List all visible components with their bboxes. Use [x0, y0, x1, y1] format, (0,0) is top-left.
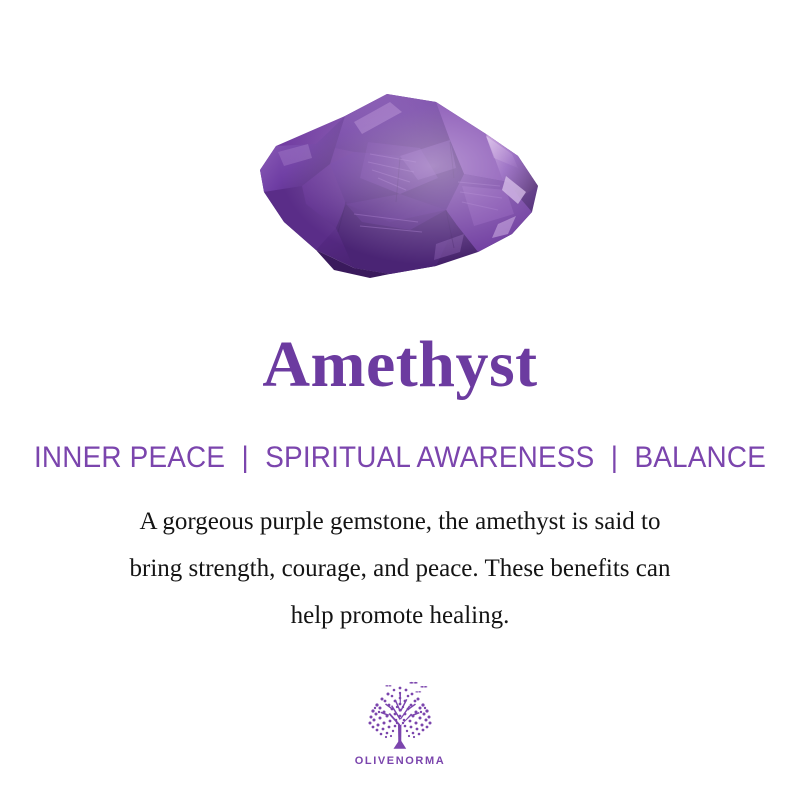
keyword-spiritual-awareness: SPIRITUAL AWARENESS: [265, 441, 594, 474]
amethyst-crystal-icon: [250, 82, 550, 297]
keyword-separator: |: [233, 441, 257, 474]
brand-name: OLIVENORMA: [355, 755, 446, 767]
tree-icon: [357, 678, 443, 752]
description-line: A gorgeous purple gemstone, the amethyst…: [50, 498, 750, 545]
keyword-inner-peace: INNER PEACE: [34, 441, 225, 474]
keyword-separator: |: [602, 441, 626, 474]
keyword-balance: BALANCE: [634, 441, 766, 474]
brand-logo: OLIVENORMA: [0, 678, 800, 767]
product-card: Amethyst INNER PEACE | SPIRITUAL AWARENE…: [0, 0, 800, 800]
description-line: help promote healing.: [50, 592, 750, 639]
product-description: A gorgeous purple gemstone, the amethyst…: [50, 498, 750, 639]
description-line: bring strength, courage, and peace. Thes…: [50, 545, 750, 592]
page-title: Amethyst: [0, 332, 800, 398]
gemstone-image: [0, 78, 800, 300]
keyword-list: INNER PEACE | SPIRITUAL AWARENESS | BALA…: [28, 441, 772, 475]
